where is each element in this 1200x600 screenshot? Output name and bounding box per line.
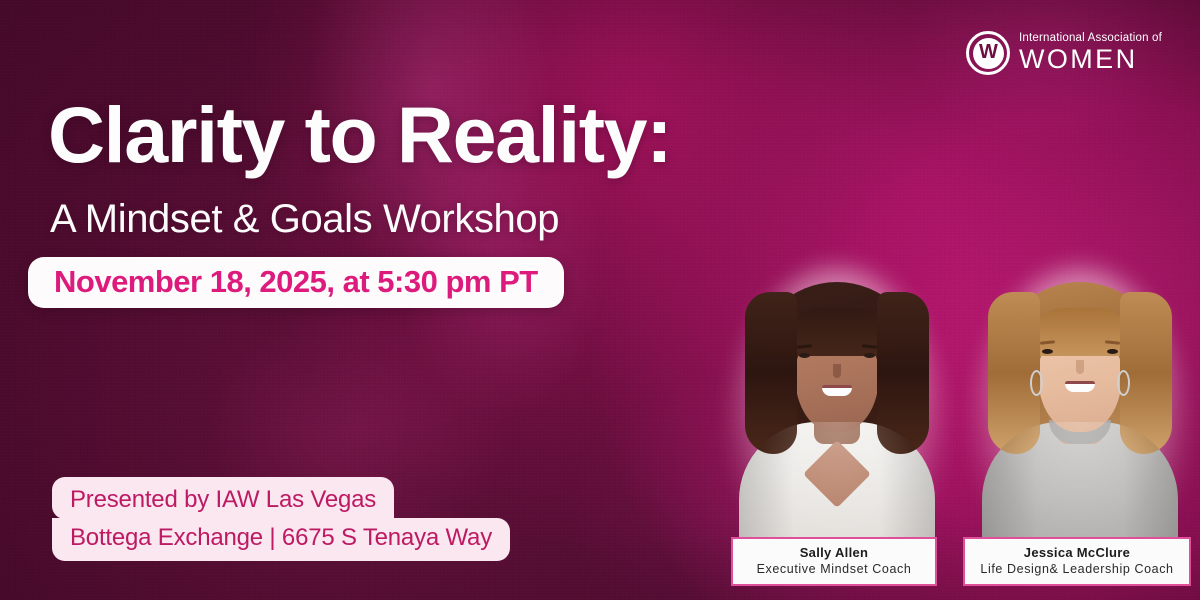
portrait-illustration (980, 272, 1180, 572)
event-banner: W International Association of WOMEN Cla… (0, 0, 1200, 600)
event-date-badge: November 18, 2025, at 5:30 pm PT (28, 257, 564, 308)
logo-brandname: WOMEN (1019, 46, 1162, 73)
earring-right (1117, 370, 1130, 396)
event-subtitle: A Mindset & Goals Workshop (50, 198, 559, 240)
presented-by-text: Presented by IAW Las Vegas (52, 477, 394, 519)
logo-letter: W (979, 42, 997, 62)
speaker-title: Executive Mindset Coach (741, 561, 927, 577)
eye-left (1042, 349, 1053, 354)
nose-shape (833, 364, 841, 378)
logo-inner-circle: W (973, 38, 1004, 69)
logo-wordmark: International Association of WOMEN (1019, 33, 1162, 74)
venue-info-block: Presented by IAW Las Vegas Bottega Excha… (52, 477, 510, 561)
venue-address-text: Bottega Exchange | 6675 S Tenaya Way (52, 518, 510, 561)
eye-right (864, 353, 875, 358)
nameplate-jessica-mcclure: Jessica McClure Life Design& Leadership … (963, 537, 1191, 587)
nameplate-sally-allen: Sally Allen Executive Mindset Coach (731, 537, 937, 587)
event-date-text: November 18, 2025, at 5:30 pm PT (54, 264, 538, 299)
nose-shape (1076, 360, 1084, 374)
hair-cap-shape (785, 308, 889, 356)
eye-left (799, 353, 810, 358)
mouth-smile (822, 385, 852, 396)
mouth-smile (1065, 381, 1095, 392)
speaker-title: Life Design& Leadership Coach (973, 561, 1181, 577)
portrait-illustration (737, 272, 937, 572)
eye-right (1107, 349, 1118, 354)
circle-w-logo-icon: W (966, 31, 1010, 75)
logo-tagline: International Association of (1019, 33, 1162, 45)
earring-left (1030, 370, 1043, 396)
event-title: Clarity to Reality: (48, 99, 671, 172)
iaw-logo: W International Association of WOMEN (966, 31, 1162, 75)
speaker-name: Sally Allen (741, 545, 927, 561)
speaker-name: Jessica McClure (973, 545, 1181, 561)
